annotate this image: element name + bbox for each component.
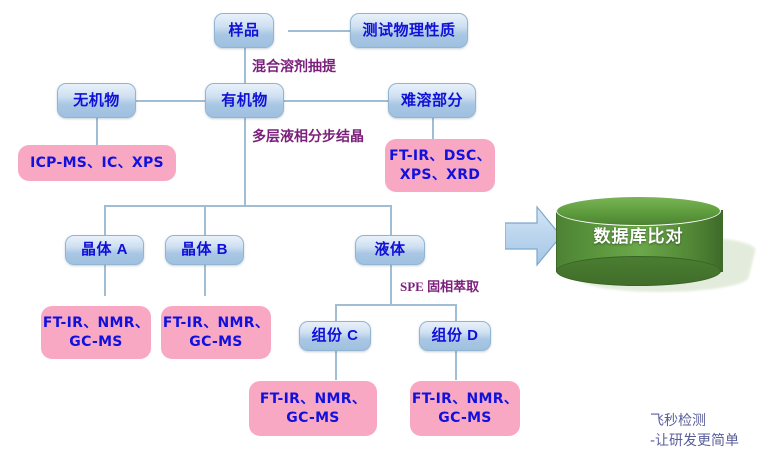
methods-fraction-c-line1: FT-IR、NMR、	[260, 390, 366, 409]
methods-crystal-b[interactable]: FT-IR、NMR、 GC-MS	[161, 306, 271, 359]
node-crystal-b[interactable]: 晶体 B	[165, 235, 244, 265]
connector-bus-crystals	[104, 205, 392, 207]
watermark-text: 飞秒检测 -让研发更简单	[650, 411, 739, 452]
arrow-to-database-icon	[505, 205, 563, 267]
methods-insoluble[interactable]: FT-IR、DSC、 XPS、XRD	[385, 139, 495, 192]
edge-label-spe: SPE 固相萃取	[400, 276, 479, 295]
methods-fraction-d[interactable]: FT-IR、NMR、 GC-MS	[410, 381, 520, 436]
connector-spe-to-fraction-d	[455, 304, 457, 322]
methods-crystal-a-line1: FT-IR、NMR、	[43, 314, 149, 333]
node-insoluble[interactable]: 难溶部分	[388, 83, 476, 118]
node-fraction-d[interactable]: 组份 D	[419, 321, 491, 351]
connector-insoluble-to-methods	[432, 117, 434, 139]
node-inorganic[interactable]: 无机物	[57, 83, 136, 118]
connector-inorganic-to-organic	[136, 100, 206, 102]
methods-fraction-c-line2: GC-MS	[286, 409, 339, 428]
edge-label-solvent-extraction: 混合溶剂抽提	[252, 56, 336, 76]
methods-fraction-d-line1: FT-IR、NMR、	[412, 390, 518, 409]
connector-organic-to-insoluble	[284, 100, 388, 102]
methods-crystal-b-line2: GC-MS	[189, 333, 242, 352]
connector-spe-to-fraction-c	[335, 304, 337, 322]
methods-crystal-b-line1: FT-IR、NMR、	[163, 314, 269, 333]
connector-bus-to-liquid	[390, 205, 392, 235]
node-sample[interactable]: 样品	[214, 13, 274, 48]
node-liquid[interactable]: 液体	[355, 235, 425, 265]
connector-crystal-b-to-methods	[204, 263, 206, 296]
connector-organic-to-bus	[244, 117, 246, 206]
methods-insoluble-line1: FT-IR、DSC、	[389, 147, 491, 166]
database-bottom-ellipse	[556, 256, 721, 286]
connector-bus-to-crystal-b	[204, 205, 206, 235]
edge-label-multilayer-crystallization: 多层液相分步结晶	[252, 126, 364, 146]
connector-fraction-d-to-methods	[455, 350, 457, 380]
database-label: 数据库比对	[556, 222, 721, 247]
connector-inorganic-to-methods	[96, 117, 98, 145]
database-cylinder[interactable]: 数据库比对	[556, 196, 756, 296]
connector-sample-to-physical-test	[288, 30, 350, 32]
connector-liquid-to-spe-bus	[390, 263, 392, 305]
connector-spe-bus	[335, 304, 457, 306]
methods-fraction-c[interactable]: FT-IR、NMR、 GC-MS	[249, 381, 377, 436]
node-physical-test[interactable]: 测试物理性质	[350, 13, 468, 48]
methods-crystal-a[interactable]: FT-IR、NMR、 GC-MS	[41, 306, 151, 359]
connector-bus-to-crystal-a	[104, 205, 106, 235]
connector-crystal-a-to-methods	[104, 263, 106, 296]
connector-fraction-c-to-methods	[335, 350, 337, 380]
methods-fraction-d-line2: GC-MS	[438, 409, 491, 428]
node-crystal-a[interactable]: 晶体 A	[65, 235, 144, 265]
methods-crystal-a-line2: GC-MS	[69, 333, 122, 352]
node-organic[interactable]: 有机物	[205, 83, 284, 118]
methods-insoluble-line2: XPS、XRD	[400, 166, 480, 185]
node-fraction-c[interactable]: 组份 C	[299, 321, 371, 351]
methods-inorganic[interactable]: ICP-MS、IC、XPS	[18, 145, 176, 181]
flowchart-canvas: 样品 测试物理性质 无机物 有机物 难溶部分 晶体 A 晶体 B 液体 组份 C…	[0, 0, 771, 468]
